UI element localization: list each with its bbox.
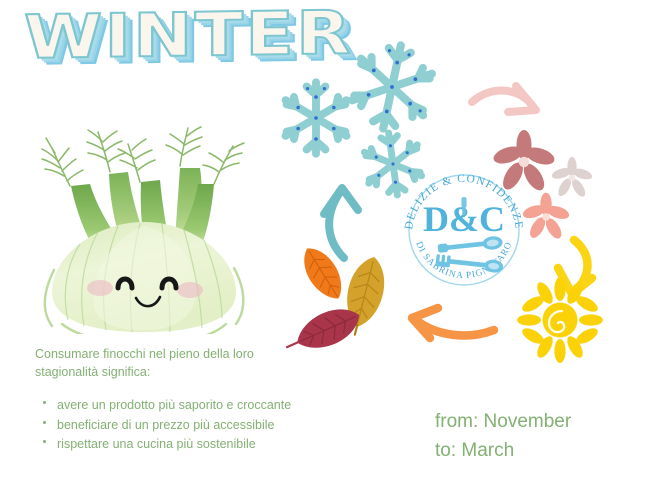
intro-line-2: stagionalità significa:: [35, 363, 290, 381]
list-item-label: avere un prodotto più saporito e croccan…: [57, 396, 297, 415]
fennel-bulb: [52, 222, 236, 332]
blush-right: [177, 282, 203, 298]
snowflake-icon-1: [286, 82, 347, 153]
arrow-autumn-to-winter: [324, 188, 358, 258]
snowflake-icon-2: [348, 40, 437, 136]
bullet-icon: [43, 401, 46, 404]
delizie-e-confidenze-logo: DELIZIE & CONFIDENZE DI SABRINA PIGNATAR…: [398, 168, 530, 290]
flower-icon-grey: [551, 157, 594, 199]
fennel-fronds: [42, 127, 244, 186]
availability-to: to: March: [435, 437, 571, 466]
blush-left: [87, 280, 113, 296]
benefits-list: avere un prodotto più saporito e croccan…: [35, 396, 297, 455]
intro-line-1: Consumare finocchi nel pieno della loro: [35, 345, 290, 363]
availability-range: from: November to: March: [435, 408, 571, 465]
list-item-label: rispettare una cucina più sostenibile: [57, 437, 256, 451]
arrow-summer-to-autumn: [412, 308, 494, 338]
poster-canvas: WINTER: [0, 0, 667, 500]
intro-paragraph: Consumare finocchi nel pieno della loro …: [35, 345, 290, 381]
bullet-icon: [43, 440, 46, 443]
bullet-icon: [43, 421, 46, 424]
arrow-winter-to-spring: [472, 86, 536, 112]
fennel-illustration: [28, 98, 260, 334]
availability-from: from: November: [435, 408, 571, 437]
list-item: beneficiare di un prezzo più accessibile: [35, 416, 297, 435]
list-item: rispettare una cucina più sostenibile: [35, 435, 297, 454]
list-item-label: beneficiare di un prezzo più accessibile: [57, 418, 275, 432]
list-item: avere un prodotto più saporito e croccan…: [35, 396, 297, 415]
